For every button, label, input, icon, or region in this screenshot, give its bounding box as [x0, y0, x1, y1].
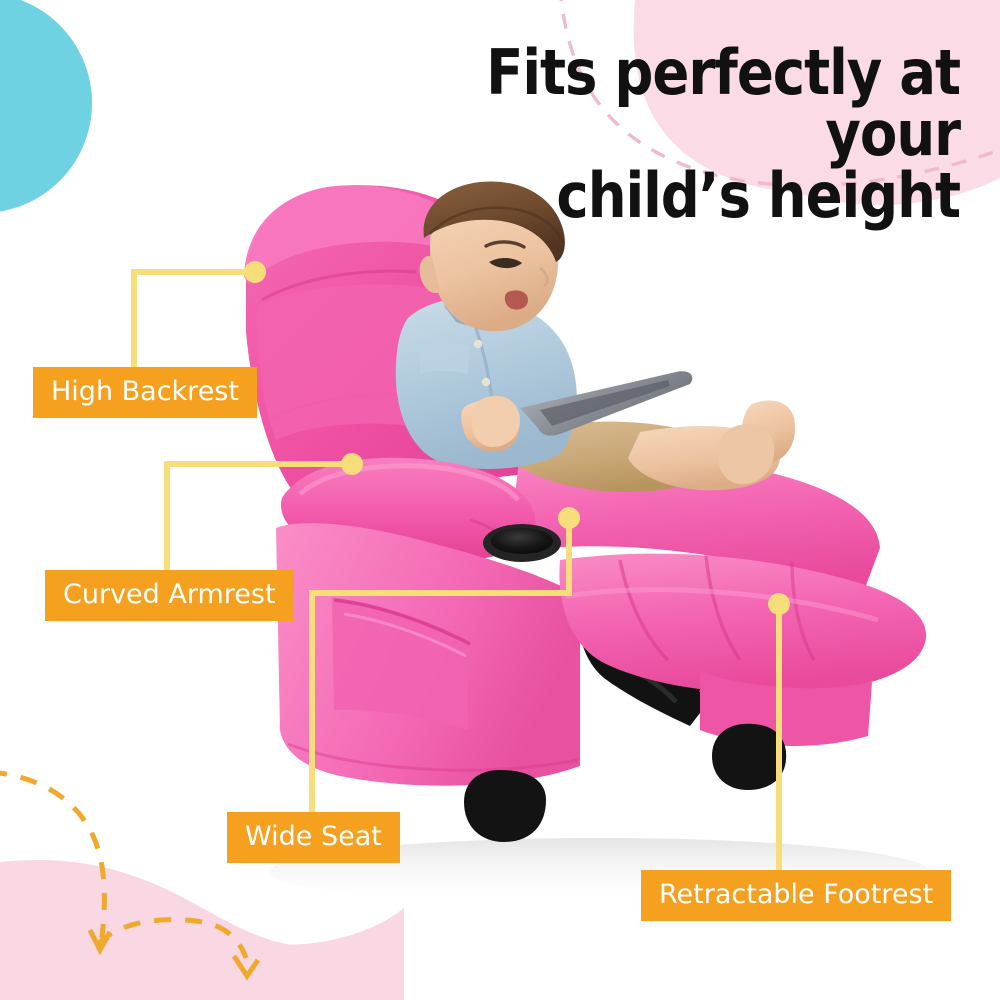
- callout-badge-curved-armrest[interactable]: Curved Armrest: [45, 570, 294, 621]
- product-feature-graphic: Fits perfectly at your child’s height: [0, 0, 1000, 1000]
- chair-leg-front: [464, 770, 546, 842]
- headline: Fits perfectly at your child’s height: [344, 42, 960, 226]
- chair-leg-footrest: [712, 724, 786, 790]
- callout-badge-high-backrest[interactable]: High Backrest: [33, 367, 257, 418]
- chair-side-panel: [276, 523, 580, 786]
- chair-footrest: [559, 554, 926, 746]
- callout-badge-wide-seat[interactable]: Wide Seat: [227, 812, 400, 863]
- cup-holder: [483, 524, 561, 562]
- callout-badge-retractable-footrest[interactable]: Retractable Footrest: [641, 870, 951, 921]
